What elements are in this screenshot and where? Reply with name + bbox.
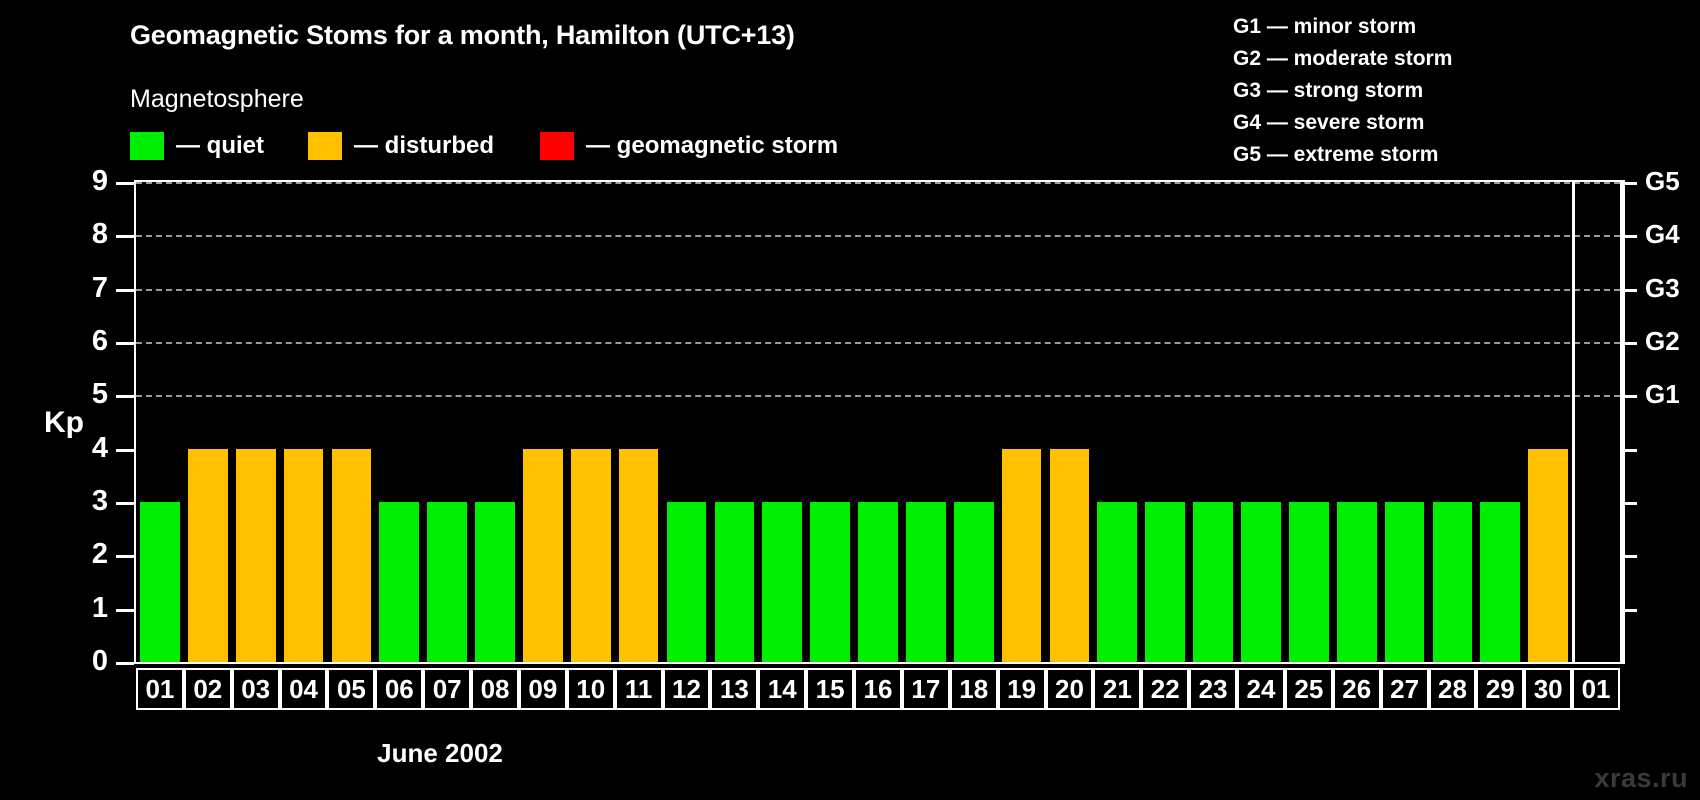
g-tick-label-G4: G4 xyxy=(1645,221,1680,247)
legend-label-disturbed: — disturbed xyxy=(354,132,494,160)
g-tick-mark-G1 xyxy=(1622,395,1637,398)
day-label-14[interactable]: 15 xyxy=(806,668,854,710)
day-label-16[interactable]: 17 xyxy=(902,668,950,710)
bar-day-21 xyxy=(1097,502,1137,662)
y-tick-label-7: 7 xyxy=(92,274,108,303)
bar-day-04 xyxy=(284,449,324,662)
day-label-13[interactable]: 14 xyxy=(758,668,806,710)
g-tick-mark-G4 xyxy=(1622,235,1637,238)
bar-day-14 xyxy=(762,502,802,662)
storm-scale-g2: G2 — moderate storm xyxy=(1233,43,1452,75)
bar-day-07 xyxy=(427,502,467,662)
day-label-26[interactable]: 27 xyxy=(1381,668,1429,710)
day-label-15[interactable]: 16 xyxy=(854,668,902,710)
g-axis-minor-tick xyxy=(1622,555,1637,558)
bar-day-18 xyxy=(954,502,994,662)
day-label-3[interactable]: 04 xyxy=(280,668,328,710)
y-tick-label-4: 4 xyxy=(92,434,108,463)
y-tick-mark-1 xyxy=(116,609,134,612)
day-label-22[interactable]: 23 xyxy=(1189,668,1237,710)
day-label-8[interactable]: 09 xyxy=(519,668,567,710)
day-label-5[interactable]: 06 xyxy=(375,668,423,710)
day-label-0[interactable]: 01 xyxy=(136,668,184,710)
g-tick-mark-G2 xyxy=(1622,342,1637,345)
g-tick-label-G2: G2 xyxy=(1645,328,1680,354)
day-label-25[interactable]: 26 xyxy=(1333,668,1381,710)
y-tick-mark-8 xyxy=(116,235,134,238)
day-label-18[interactable]: 19 xyxy=(998,668,1046,710)
storm-scale-g4: G4 — severe storm xyxy=(1233,107,1452,139)
day-label-30[interactable]: 01 xyxy=(1572,668,1620,710)
legend-item-quiet: — quiet xyxy=(130,131,264,161)
y-tick-label-0: 0 xyxy=(92,647,108,676)
day-label-1[interactable]: 02 xyxy=(184,668,232,710)
bar-day-17 xyxy=(906,502,946,662)
storm-scale-g3: G3 — strong storm xyxy=(1233,75,1452,107)
day-label-9[interactable]: 10 xyxy=(567,668,615,710)
day-label-23[interactable]: 24 xyxy=(1237,668,1285,710)
bar-day-01 xyxy=(140,502,180,662)
day-label-11[interactable]: 12 xyxy=(663,668,711,710)
bar-day-05 xyxy=(332,449,372,662)
day-label-27[interactable]: 28 xyxy=(1429,668,1477,710)
legend-heading: Magnetosphere xyxy=(130,85,304,114)
y-tick-label-2: 2 xyxy=(92,540,108,569)
day-label-28[interactable]: 29 xyxy=(1476,668,1524,710)
legend-item-geomagnetic-storm: — geomagnetic storm xyxy=(540,131,838,161)
y-tick-mark-2 xyxy=(116,555,134,558)
y-axis-title: Kp xyxy=(44,406,84,440)
bar-day-26 xyxy=(1337,502,1377,662)
bar-day-23 xyxy=(1193,502,1233,662)
g-axis-minor-tick xyxy=(1622,449,1637,452)
bar-day-25 xyxy=(1289,502,1329,662)
bar-series xyxy=(136,182,1620,662)
watermark: xras.ru xyxy=(1594,763,1688,794)
legend-item-disturbed: — disturbed xyxy=(308,131,494,161)
g-axis-minor-tick xyxy=(1622,502,1637,505)
day-label-4[interactable]: 05 xyxy=(327,668,375,710)
x-axis-title-text: June 2002 xyxy=(377,738,503,768)
day-label-21[interactable]: 22 xyxy=(1141,668,1189,710)
day-label-7[interactable]: 08 xyxy=(471,668,519,710)
y-tick-label-1: 1 xyxy=(92,594,108,623)
plot-area xyxy=(134,180,1622,664)
bar-day-29 xyxy=(1480,502,1520,662)
legend-swatch-disturbed-icon xyxy=(308,132,342,160)
y-tick-label-5: 5 xyxy=(92,380,108,409)
day-label-2[interactable]: 03 xyxy=(232,668,280,710)
day-label-10[interactable]: 11 xyxy=(615,668,663,710)
storm-scale-key: G1 — minor storm G2 — moderate storm G3 … xyxy=(1233,11,1452,171)
day-label-6[interactable]: 07 xyxy=(423,668,471,710)
storm-scale-g1: G1 — minor storm xyxy=(1233,11,1452,43)
bar-day-02 xyxy=(188,449,228,662)
g-tick-label-G1: G1 xyxy=(1645,381,1680,407)
bar-day-19 xyxy=(1002,449,1042,662)
bar-day-13 xyxy=(715,502,755,662)
g-axis-minor-tick xyxy=(1622,609,1637,612)
legend-label-quiet: — quiet xyxy=(176,132,264,160)
legend-label-geomagnetic-storm: — geomagnetic storm xyxy=(586,132,838,160)
y-tick-mark-9 xyxy=(116,182,134,185)
y-tick-mark-6 xyxy=(116,342,134,345)
g-axis-line xyxy=(1622,180,1625,664)
y-tick-mark-5 xyxy=(116,395,134,398)
bar-day-27 xyxy=(1385,502,1425,662)
bar-day-20 xyxy=(1050,449,1090,662)
bar-day-12 xyxy=(667,502,707,662)
y-tick-label-3: 3 xyxy=(92,487,108,516)
bar-day-09 xyxy=(523,449,563,662)
x-axis-day-labels: 0102030405060708091011121314151617181920… xyxy=(134,668,1622,710)
legend-swatch-geomagnetic-storm-icon xyxy=(540,132,574,160)
day-label-20[interactable]: 21 xyxy=(1093,668,1141,710)
bar-day-22 xyxy=(1145,502,1185,662)
bar-day-08 xyxy=(475,502,515,662)
y-tick-mark-4 xyxy=(116,449,134,452)
g-tick-label-G3: G3 xyxy=(1645,275,1680,301)
bar-day-11 xyxy=(619,449,659,662)
x-axis-title: June 2002 xyxy=(0,738,1700,769)
bar-day-28 xyxy=(1433,502,1473,662)
bar-day-06 xyxy=(379,502,419,662)
storm-scale-g5: G5 — extreme storm xyxy=(1233,139,1452,171)
y-tick-label-9: 9 xyxy=(92,167,108,196)
page-title: Geomagnetic Stoms for a month, Hamilton … xyxy=(130,20,795,51)
g-tick-label-G5: G5 xyxy=(1645,168,1680,194)
y-tick-mark-3 xyxy=(116,502,134,505)
y-tick-label-6: 6 xyxy=(92,327,108,356)
y-tick-mark-7 xyxy=(116,289,134,292)
g-tick-mark-G5 xyxy=(1622,182,1637,185)
legend: — quiet — disturbed — geomagnetic storm xyxy=(130,131,838,161)
legend-swatch-quiet-icon xyxy=(130,132,164,160)
bar-day-15 xyxy=(810,502,850,662)
bar-day-10 xyxy=(571,449,611,662)
y-tick-label-8: 8 xyxy=(92,220,108,249)
day-label-29[interactable]: 30 xyxy=(1524,668,1572,710)
bar-day-16 xyxy=(858,502,898,662)
y-tick-mark-0 xyxy=(116,662,134,665)
day-label-17[interactable]: 18 xyxy=(950,668,998,710)
g-tick-mark-G3 xyxy=(1622,289,1637,292)
bar-day-24 xyxy=(1241,502,1281,662)
day-label-19[interactable]: 20 xyxy=(1046,668,1094,710)
day-label-12[interactable]: 13 xyxy=(710,668,758,710)
bar-day-03 xyxy=(236,449,276,662)
bar-day-30 xyxy=(1528,449,1568,662)
day-label-24[interactable]: 25 xyxy=(1285,668,1333,710)
